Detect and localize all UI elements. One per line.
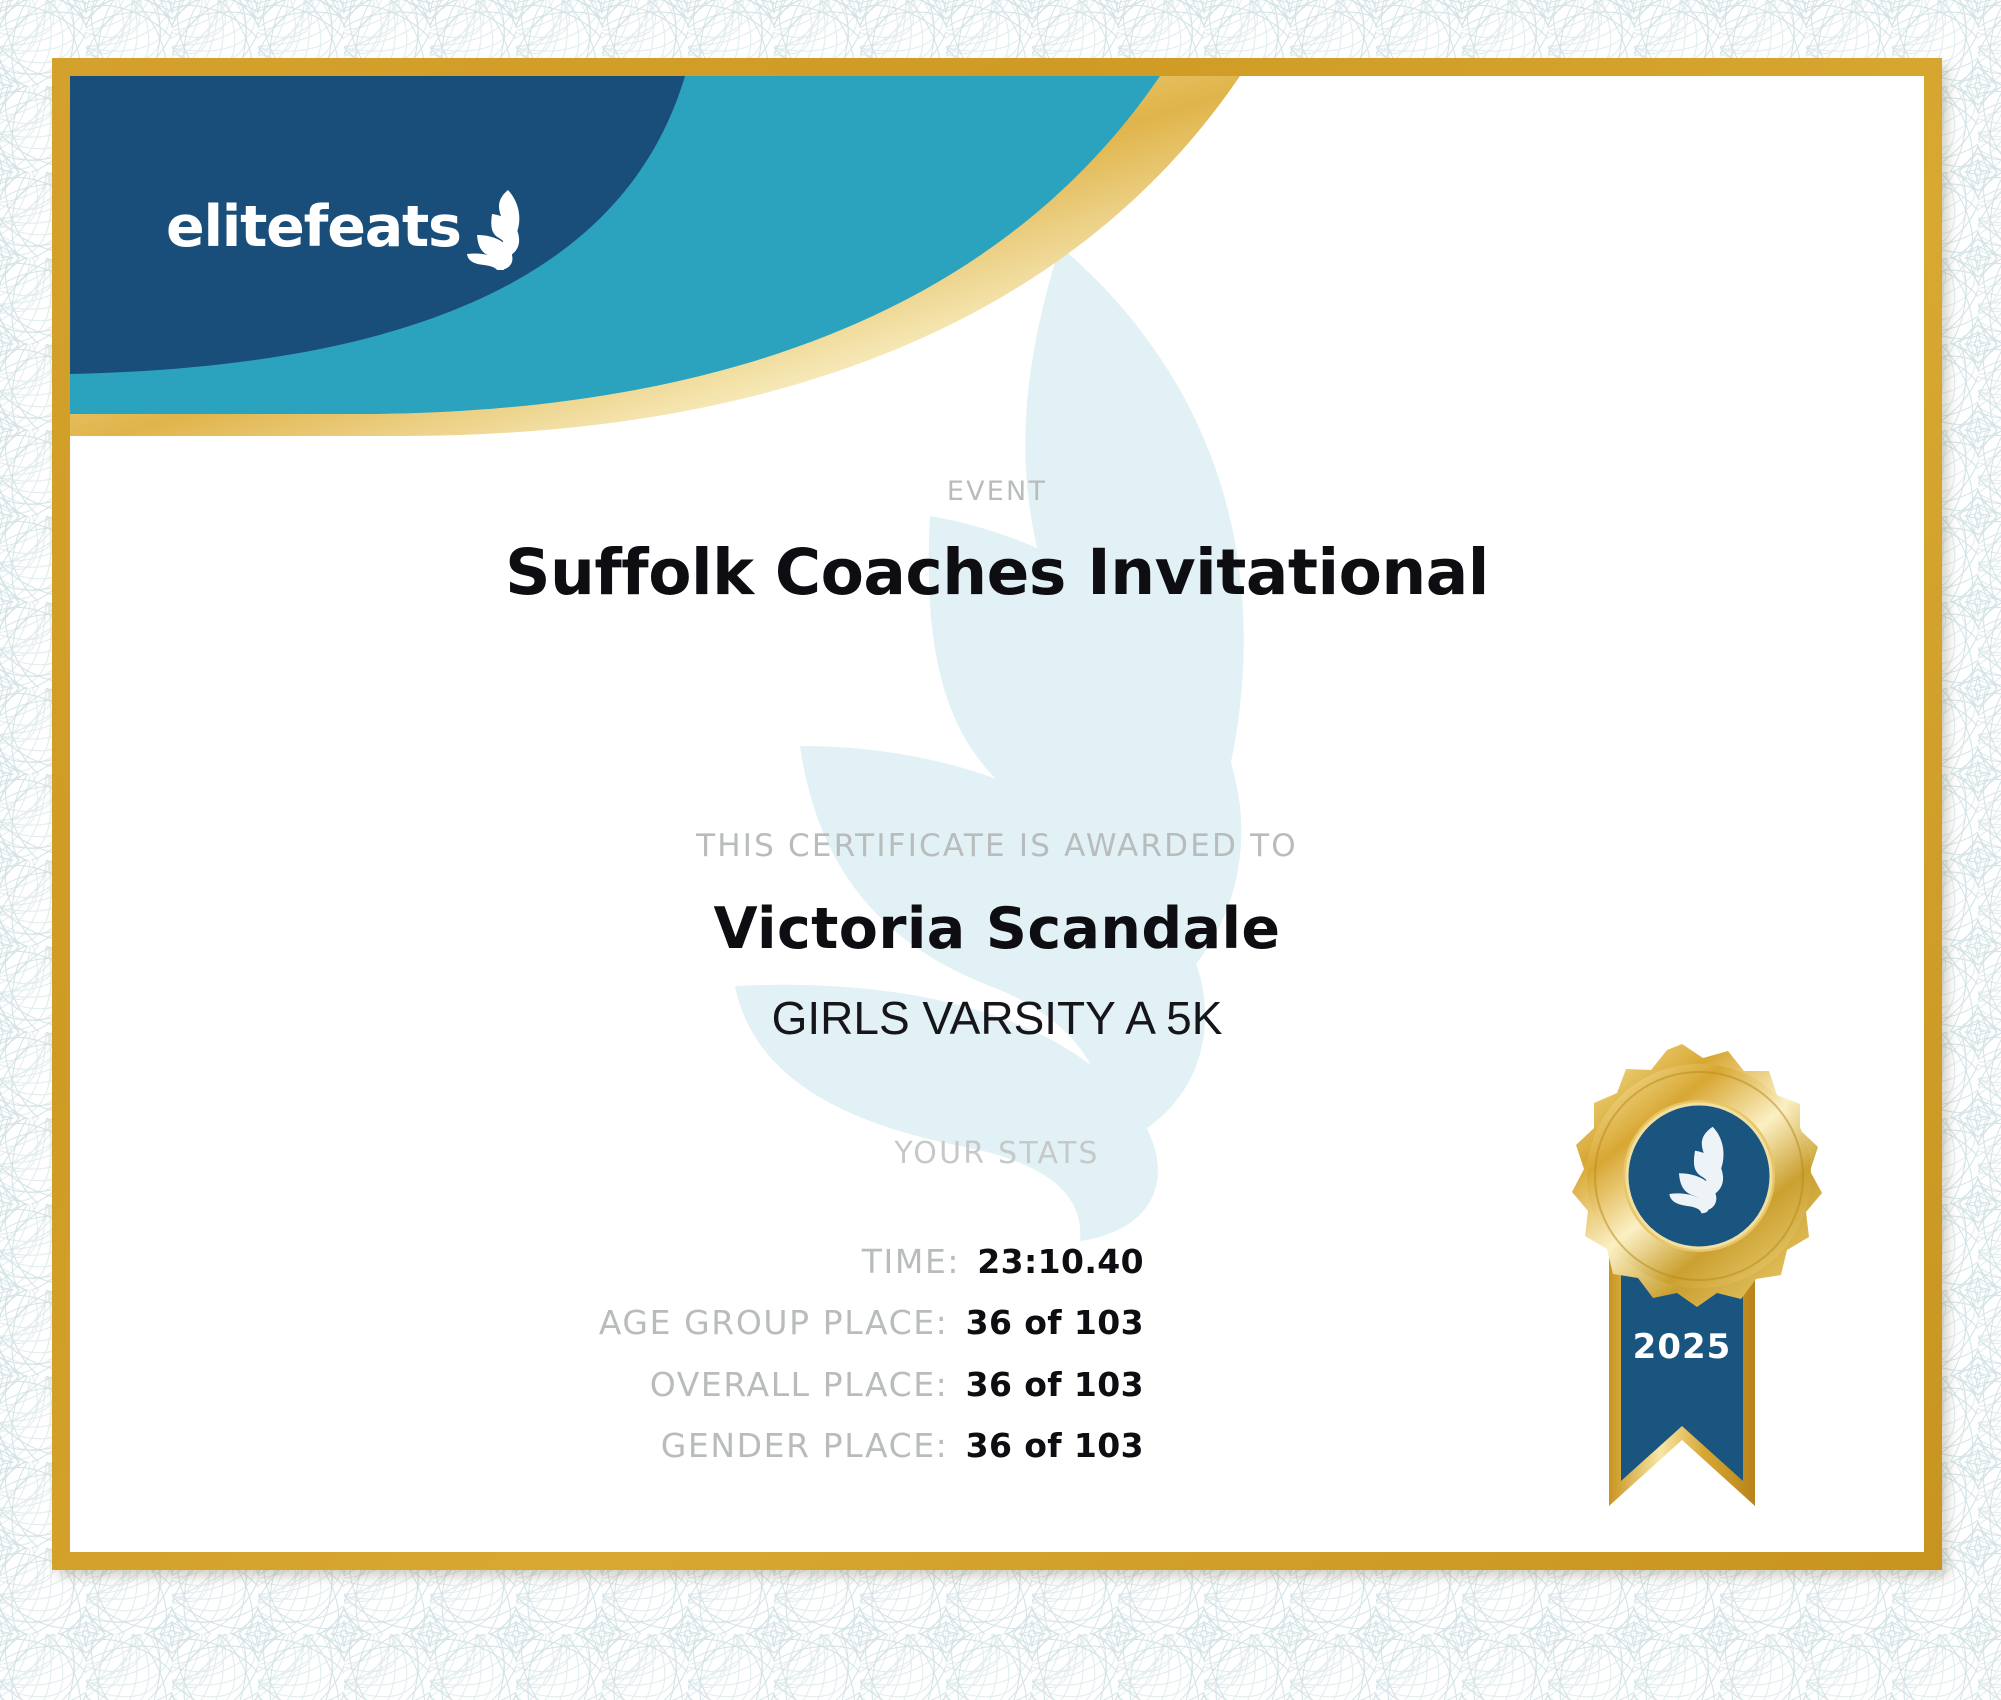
certificate-body: elitefeats EVENT Suffolk Coaches Invitat… xyxy=(70,76,1924,1552)
stat-key: OVERALL PLACE: xyxy=(650,1365,949,1404)
event-title: Suffolk Coaches Invitational xyxy=(70,536,1924,609)
stat-value: 36 of 103 xyxy=(966,1365,1144,1404)
stat-key: AGE GROUP PLACE: xyxy=(599,1303,949,1342)
gold-frame: elitefeats EVENT Suffolk Coaches Invitat… xyxy=(52,58,1942,1570)
finisher-medal-seal: 2025 xyxy=(1517,1036,1847,1526)
stat-key: TIME: xyxy=(862,1242,960,1281)
awarded-to-label: THIS CERTIFICATE IS AWARDED TO xyxy=(70,828,1924,864)
certificate-content: EVENT Suffolk Coaches Invitational THIS … xyxy=(70,76,1924,1552)
stat-value: 36 of 103 xyxy=(966,1426,1144,1465)
stat-value: 36 of 103 xyxy=(966,1303,1144,1342)
stat-key: GENDER PLACE: xyxy=(661,1426,949,1465)
event-label: EVENT xyxy=(70,476,1924,507)
medal-year: 2025 xyxy=(1633,1327,1732,1367)
recipient-name: Victoria Scandale xyxy=(70,896,1924,962)
stat-value: 23:10.40 xyxy=(977,1242,1144,1281)
certificate: elitefeats EVENT Suffolk Coaches Invitat… xyxy=(0,0,2001,1700)
